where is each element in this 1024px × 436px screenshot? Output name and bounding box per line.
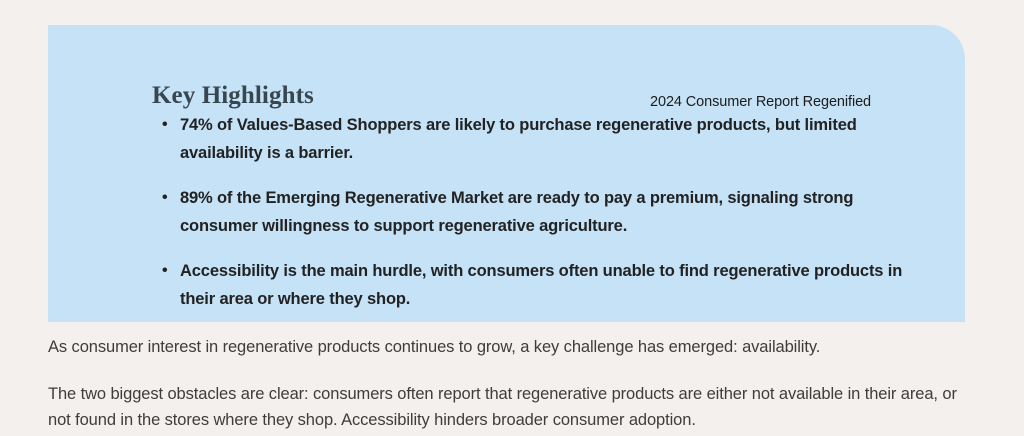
- list-item: • Accessibility is the main hurdle, with…: [160, 257, 921, 314]
- bullet-dot-icon: •: [162, 111, 167, 139]
- bullet-dot-icon: •: [162, 184, 167, 212]
- bullet-dot-icon: •: [162, 257, 167, 285]
- list-item: • 74% of Values-Based Shoppers are likel…: [160, 111, 921, 168]
- body-paragraph-1: As consumer interest in regenerative pro…: [48, 334, 964, 361]
- list-item-text: 89% of the Emerging Regenerative Market …: [180, 189, 853, 235]
- list-item-text: Accessibility is the main hurdle, with c…: [180, 262, 902, 308]
- document-page: Key Highlights 2024 Consumer Report Rege…: [0, 0, 1024, 436]
- body-copy: As consumer interest in regenerative pro…: [48, 334, 964, 434]
- highlights-list: • 74% of Values-Based Shoppers are likel…: [160, 111, 921, 313]
- body-paragraph-2: The two biggest obstacles are clear: con…: [48, 381, 964, 434]
- list-item-text: 74% of Values-Based Shoppers are likely …: [180, 116, 857, 162]
- page-title: Key Highlights: [152, 82, 314, 110]
- callout-header: Key Highlights 2024 Consumer Report Rege…: [100, 51, 921, 97]
- list-item: • 89% of the Emerging Regenerative Marke…: [160, 184, 921, 241]
- report-source-label: 2024 Consumer Report Regenified: [650, 94, 871, 110]
- key-highlights-callout: Key Highlights 2024 Consumer Report Rege…: [48, 25, 965, 322]
